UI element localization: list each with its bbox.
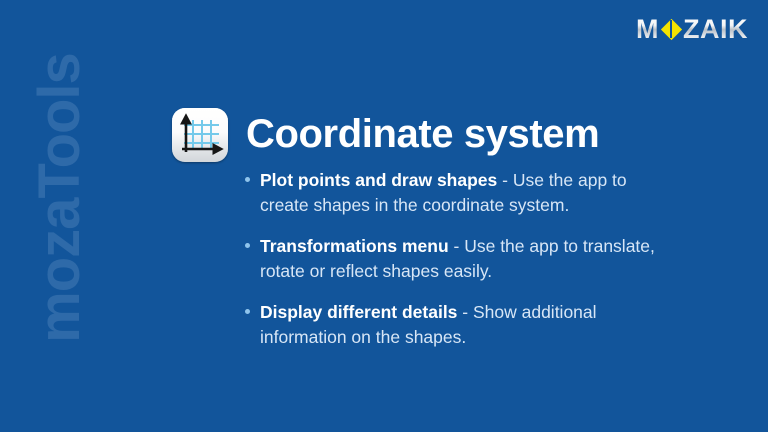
list-item: Plot points and draw shapes - Use the ap… [242,168,670,218]
mozaik-logo[interactable]: M ZAIK [636,14,748,44]
diamond-icon [660,18,682,40]
bullet-dot-icon [245,243,250,248]
list-item: Display different details - Show additio… [242,300,670,350]
bullet-dot-icon [245,177,250,182]
list-item-lead: Plot points and draw shapes [260,170,497,190]
page-title: Coordinate system [246,110,599,158]
mozatools-watermark: mozaTools [30,53,90,343]
bullet-dot-icon [245,309,250,314]
logo-text-zaik: ZAIK [683,14,748,44]
list-item-lead: Transformations menu [260,236,449,256]
logo-text-m: M [636,14,659,44]
coordinate-system-icon[interactable] [172,108,228,162]
feature-list: Plot points and draw shapes - Use the ap… [242,168,670,350]
slide-canvas: mozaTools M ZAIK [0,0,768,432]
list-item-lead: Display different details [260,302,457,322]
list-item: Transformations menu - Use the app to tr… [242,234,670,284]
